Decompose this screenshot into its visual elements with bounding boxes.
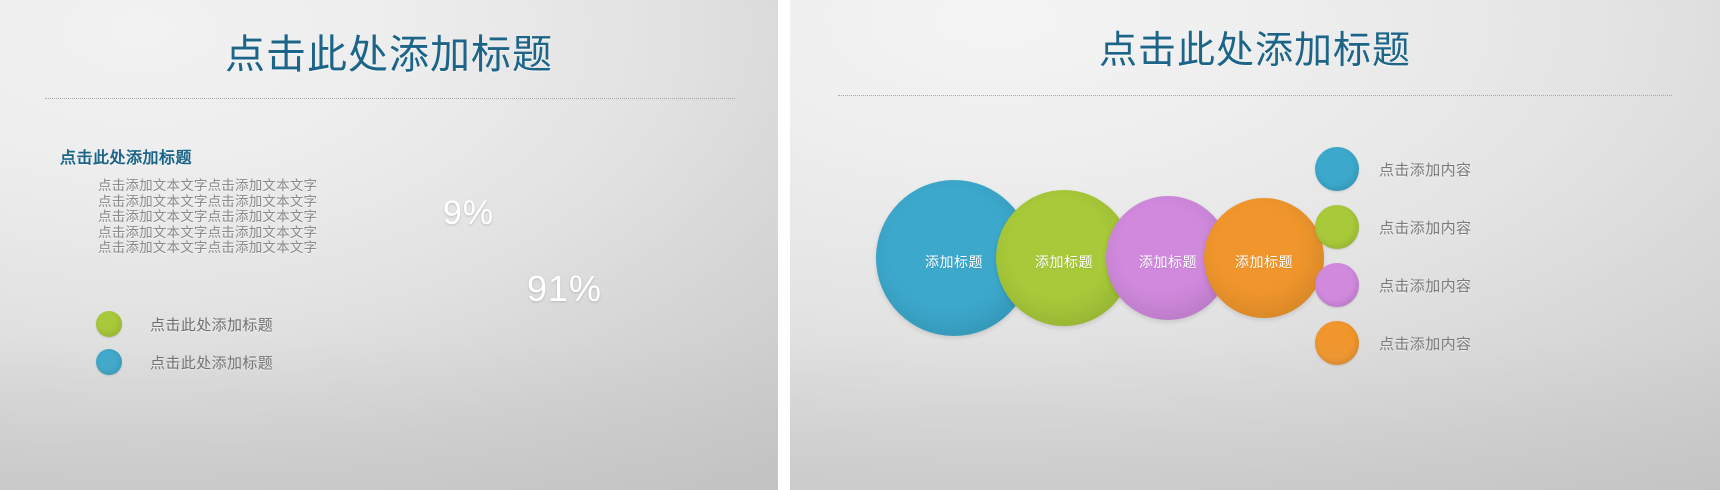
slide-left: 点击此处添加标题 点击此处添加标题 点击添加文本文字点击添加文本文字 点击添加文… <box>0 0 778 490</box>
venn-circle-label: 添加标题 <box>925 252 983 272</box>
venn-circle-label: 添加标题 <box>1139 252 1197 272</box>
legend-item-label: 点击添加内容 <box>1379 159 1471 180</box>
slide-right: 点击此处添加标题 添加标题 添加标题 添加标题 添加标题 点击添加内容 <box>790 0 1720 490</box>
body-line: 点击添加文本文字点击添加文本文字 <box>98 194 317 210</box>
legend-dot-blue-icon <box>1315 147 1359 191</box>
venn-diagram: 添加标题 添加标题 添加标题 添加标题 <box>790 0 1720 490</box>
title-divider-right <box>838 95 1672 96</box>
legend-item-label: 点击此处添加标题 <box>150 352 273 373</box>
body-text-block: 点击添加文本文字点击添加文本文字 点击添加文本文字点击添加文本文字 点击添加文本… <box>98 178 317 256</box>
legend-dot-blue-icon <box>96 349 122 375</box>
legend-item[interactable]: 点击添加内容 <box>1315 314 1471 372</box>
legend-dot-green-icon <box>1315 205 1359 249</box>
body-line: 点击添加文本文字点击添加文本文字 <box>98 240 317 256</box>
page-title-right: 点击此处添加标题 <box>790 32 1720 72</box>
body-line: 点击添加文本文字点击添加文本文字 <box>98 178 317 194</box>
percent-value-large: 91% <box>527 268 602 310</box>
legend-left: 点击此处添加标题 点击此处添加标题 <box>96 305 273 381</box>
percent-value-small: 9% <box>443 194 494 233</box>
legend-item[interactable]: 点击添加内容 <box>1315 198 1471 256</box>
body-line: 点击添加文本文字点击添加文本文字 <box>98 225 317 241</box>
page-title-left: 点击此处添加标题 <box>0 34 778 76</box>
venn-circle-label: 添加标题 <box>1035 252 1093 272</box>
legend-item[interactable]: 点击添加内容 <box>1315 140 1471 198</box>
body-line: 点击添加文本文字点击添加文本文字 <box>98 209 317 225</box>
venn-circle-label: 添加标题 <box>1235 252 1293 272</box>
legend-item-label: 点击添加内容 <box>1379 217 1471 238</box>
legend-item-label: 点击此处添加标题 <box>150 314 273 335</box>
legend-item-label: 点击添加内容 <box>1379 333 1471 354</box>
legend-item[interactable]: 点击此处添加标题 <box>96 305 273 343</box>
legend-dot-orange-icon <box>1315 321 1359 365</box>
legend-item[interactable]: 点击添加内容 <box>1315 256 1471 314</box>
section-heading-left: 点击此处添加标题 <box>60 144 192 168</box>
legend-item[interactable]: 点击此处添加标题 <box>96 343 273 381</box>
legend-item-label: 点击添加内容 <box>1379 275 1471 296</box>
title-divider-left <box>45 98 735 99</box>
venn-circle-orange[interactable]: 添加标题 <box>1204 198 1324 318</box>
slide-separator <box>778 0 790 490</box>
legend-dot-green-icon <box>96 311 122 337</box>
slide-deck: 点击此处添加标题 点击此处添加标题 点击添加文本文字点击添加文本文字 点击添加文… <box>0 0 1720 490</box>
legend-right: 点击添加内容 点击添加内容 点击添加内容 点击添加内容 <box>1315 140 1471 372</box>
legend-dot-purple-icon <box>1315 263 1359 307</box>
